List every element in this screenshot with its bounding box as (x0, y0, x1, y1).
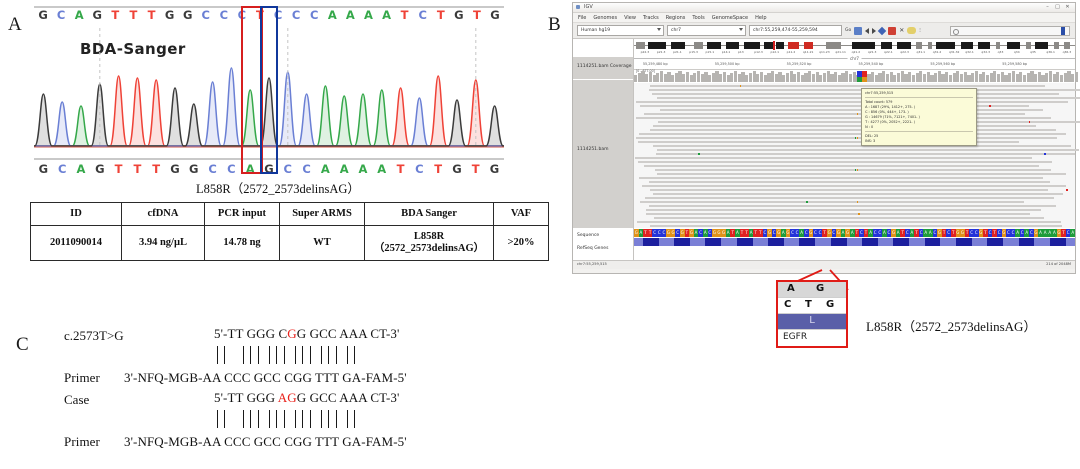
alignment-read (652, 93, 1059, 95)
cytoband-label: q21.2 (852, 50, 861, 54)
cytoband (897, 42, 911, 49)
coverage-bar (993, 71, 996, 82)
primer-block-case: Case 5'-TT GGG AGG GCC AAA CT-3' Primer3… (18, 390, 548, 454)
called-base: C (222, 162, 241, 176)
inset-ref-base-g: G (816, 283, 824, 294)
coverage-bar (893, 75, 896, 82)
primer-label: Primer (64, 370, 100, 385)
gene-exon (862, 238, 878, 246)
resize-icon[interactable]: ✕ (899, 27, 904, 35)
alignment-label-panel (573, 80, 633, 228)
coverage-bar (1053, 74, 1056, 82)
pair-bar (217, 346, 218, 364)
target-sequence: 5'-TT GGG CGG GCC AAA CT-3' (214, 326, 399, 342)
gene-exon (1019, 238, 1035, 246)
chevron-down-icon (739, 28, 743, 31)
back-arrow-icon[interactable] (865, 28, 869, 34)
genome-select[interactable]: Human hg19 (577, 25, 664, 36)
chromosome-ideogram[interactable]: p22.3p21.3p21.1p15.3p15.1p14.1p13p12.3p1… (634, 39, 1075, 57)
coverage-bar (982, 72, 985, 82)
coverage-bar (1071, 74, 1074, 82)
coverage-bar (675, 73, 678, 82)
alignment-read (640, 201, 1024, 203)
cytoband-label: q11.21 (803, 50, 814, 54)
block-name-label: Case (64, 392, 89, 408)
coverage-bar (1023, 75, 1026, 82)
ideogram-locus-marker (773, 41, 775, 50)
pair-bar (276, 346, 277, 364)
coverage-bar (656, 73, 659, 82)
coverage-bar (1041, 75, 1044, 82)
primer-sequence: 3'-NFQ-MGB-AA CCC GCC CGG TTT GA-FAM-5' (124, 434, 407, 449)
menu-item-genomes[interactable]: Genomes (593, 15, 617, 21)
pair-bar (224, 346, 225, 364)
status-memory: 214 of 2048M (1046, 262, 1071, 266)
cytoband-label: p21.3 (657, 50, 666, 54)
coverage-bar (667, 72, 670, 82)
close-icon[interactable]: ✕ (1064, 5, 1071, 10)
cytoband (764, 42, 774, 49)
cytoband (694, 42, 704, 49)
igv-toolbar[interactable]: Human hg19 chr7 chr7:55,259,474-55,259,5… (573, 23, 1075, 39)
gene-exon (768, 238, 784, 246)
panel-c-primer-alignment: c.2573T>G 5'-TT GGG CGG GCC AAA CT-3' Pr… (18, 326, 548, 466)
reference-base: T (142, 8, 160, 22)
coverage-bar (812, 74, 815, 82)
coverage-bar (753, 71, 756, 82)
coverage-bar (671, 75, 674, 82)
reference-base: C (215, 8, 233, 22)
minimize-icon[interactable]: – (1044, 5, 1051, 10)
coverage-bar (764, 75, 767, 82)
snp-marker (989, 105, 991, 107)
reference-base: T (396, 8, 414, 22)
menu-item-regions[interactable]: Regions (666, 15, 686, 21)
coverage-bar (964, 72, 967, 82)
cytoband (788, 42, 799, 49)
coverage-bar (997, 74, 1000, 82)
coverage-bar (1075, 72, 1078, 82)
cytoband (744, 42, 760, 49)
refresh-icon[interactable] (878, 26, 886, 34)
chromosome-select[interactable]: chr7 (667, 25, 746, 36)
zoom-slider[interactable] (950, 26, 1070, 36)
coverage-bar (697, 71, 700, 82)
coverage-bar (853, 72, 856, 82)
coverage-bar (956, 71, 959, 82)
ruler-chromosome-name: chr7 (847, 56, 862, 61)
sequence-track[interactable]: GATTCCCGGCGTGACACGGGATATTATTCGCGAGCCACGC… (634, 229, 1075, 237)
coverage-bar (1008, 73, 1011, 82)
coverage-bar (945, 72, 948, 82)
coverage-bar (1016, 74, 1019, 82)
gene-track[interactable] (634, 238, 1075, 246)
alignment-read (644, 165, 1039, 167)
alignment-read (637, 221, 1061, 223)
coverage-bar (960, 74, 963, 82)
region-tool-icon[interactable] (888, 27, 896, 35)
pair-bar (243, 346, 244, 364)
menu-item-genomespace[interactable]: GenomeSpace (712, 15, 748, 21)
coverage-bar (756, 74, 759, 82)
coverage-bar (1056, 72, 1059, 82)
pair-bar (328, 410, 329, 428)
th-pcr-input: PCR input (205, 203, 280, 226)
coverage-bar (738, 74, 741, 82)
zoom-slider-knob[interactable] (1061, 27, 1065, 35)
inset-gene-name: EGFR (783, 332, 807, 342)
coverage-bar (730, 73, 733, 82)
alignment-read (642, 185, 1066, 187)
coverage-bar (786, 73, 789, 82)
called-base: T (147, 162, 166, 176)
cytoband-label: q32.3 (981, 50, 990, 54)
maximize-icon[interactable]: □ (1054, 5, 1061, 10)
coverage-bar (808, 71, 811, 82)
reference-base: A (359, 8, 377, 22)
called-base: C (278, 162, 297, 176)
reference-base: G (450, 8, 468, 22)
ruler-tick-label: 55,259,580 bp (1002, 62, 1027, 66)
sequence-base: A (1070, 229, 1075, 237)
target-suffix: G GCC AAA CT-3' (297, 390, 400, 405)
cytoband-label: p13 (738, 50, 744, 54)
reference-base: C (414, 8, 432, 22)
cytoband (776, 42, 784, 49)
pair-bar (276, 410, 277, 428)
panel-a-chromatogram: GCAGTTTGGCCCTCCCAAAATCTGTG BDA-Sanger GC… (28, 2, 528, 192)
coverage-bar (890, 72, 893, 82)
alignment-track[interactable]: chr7:55,259,515 Total count: 579 A : 168… (634, 83, 1075, 228)
cytoband-label: p15.3 (689, 50, 698, 54)
coverage-bar (930, 75, 933, 82)
cytoband-label: q31.2 (933, 50, 942, 54)
ruler-tick-label: 55,259,480 bp (643, 62, 668, 66)
popup-footer-line: INS: 3 (865, 139, 973, 144)
snp-marker (858, 213, 860, 215)
coverage-bar (1049, 71, 1052, 82)
menu-item-tracks[interactable]: Tracks (643, 15, 659, 21)
igv-app-icon (576, 5, 580, 9)
track-label-genes[interactable]: RefSeq Genes (577, 246, 608, 251)
coverage-bar (845, 71, 848, 82)
gene-exon (705, 238, 721, 246)
snp-marker (857, 169, 859, 171)
target-prefix: 5'-TT GGG C (214, 326, 287, 341)
pair-bar (269, 346, 270, 364)
alignment-read (650, 225, 1062, 227)
magnifier-icon (953, 29, 959, 35)
called-base: G (448, 162, 467, 176)
called-base: A (335, 162, 354, 176)
primer-line: Primer3'-NFQ-MGB-AA CCC GCC CGG TTT GA-F… (64, 434, 407, 450)
alignment-read (653, 125, 1036, 127)
coverage-bar (901, 71, 904, 82)
th-id: ID (31, 203, 122, 226)
gene-exon (987, 238, 1003, 246)
coverage-bar (830, 74, 833, 82)
coordinate-ruler: chr7 55,259,480 bp55,259,500 bp55,259,52… (634, 57, 1075, 70)
cytoband (996, 42, 1000, 49)
primer-sequence: 3'-NFQ-MGB-AA CCC GCC CGG TTT GA-FAM-5' (124, 370, 407, 385)
called-base: G (90, 162, 109, 176)
menu-item-view[interactable]: View (624, 15, 636, 21)
cytoband (648, 42, 666, 49)
cell-bda-sanger: L858R （2572_2573delinsAG） (365, 226, 494, 261)
cytoband (707, 42, 721, 49)
target-suffix: G GCC AAA CT-3' (297, 326, 400, 341)
cytoband-label: p14.1 (722, 50, 731, 54)
coverage-bar (701, 74, 704, 82)
th-bda-sanger: BDA Sanger (365, 203, 494, 226)
pair-bar (295, 346, 296, 364)
coverage-bar (916, 73, 919, 82)
pair-bar (295, 410, 296, 428)
coverage-bar (782, 75, 785, 82)
alignment-read (645, 197, 1055, 199)
coverage-bar (664, 74, 667, 82)
gene-exon (643, 238, 659, 246)
coverage-bar (712, 73, 715, 82)
primer-block-wildtype: c.2573T>G 5'-TT GGG CGG GCC AAA CT-3' Pr… (18, 326, 548, 390)
coverage-bar (823, 73, 826, 82)
pair-bar (336, 410, 337, 428)
pair-bar (258, 410, 259, 428)
coverage-bar (1038, 72, 1041, 82)
cell-pcr-input: 14.78 ng (205, 226, 280, 261)
popup-behavior-icon[interactable] (907, 27, 916, 34)
coverage-bar (1064, 73, 1067, 82)
gene-exon (799, 238, 815, 246)
ruler-tick-label: 55,259,560 bp (930, 62, 955, 66)
inset-reference-row: A G (778, 282, 846, 298)
coverage-bar (771, 71, 774, 82)
coverage-bar (693, 73, 696, 82)
alignment-read (649, 181, 1050, 183)
coverage-bar (941, 74, 944, 82)
track-label-column: 1114251.bam Coverage 1114251.bam Sequenc… (573, 39, 634, 269)
reference-base: A (377, 8, 395, 22)
pair-bar (284, 410, 285, 428)
locus-input-value: chr7:55,259,474-55,259,594 (753, 28, 818, 33)
panel-b-letter: B (548, 14, 561, 36)
chevron-down-icon (657, 28, 661, 31)
gene-exon (1050, 238, 1066, 246)
pair-bar (250, 346, 251, 364)
snp-marker (740, 85, 742, 87)
home-icon[interactable] (854, 27, 862, 35)
cytoband (936, 42, 955, 49)
locus-input[interactable]: chr7:55,259,474-55,259,594 (749, 25, 842, 36)
coverage-bar (1030, 71, 1033, 82)
inset-gene-row: EGFR (778, 330, 846, 345)
reference-base: A (341, 8, 359, 22)
pair-bar (321, 346, 322, 364)
pair-bar (258, 346, 259, 364)
coverage-bar (745, 75, 748, 82)
menu-item-help[interactable]: Help (755, 15, 766, 21)
reference-base: T (468, 8, 486, 22)
igv-menu-bar[interactable]: FileGenomesViewTracksRegionsToolsGenomeS… (573, 13, 1075, 23)
coverage-bar (882, 71, 885, 82)
coverage-bar (741, 72, 744, 82)
inset-alt-row: C T G (778, 298, 846, 314)
cytoband-label: p11.2 (787, 50, 796, 54)
coverage-bar (838, 75, 841, 82)
pair-bar (302, 346, 303, 364)
menu-item-tools[interactable]: Tools (692, 15, 704, 21)
cytoband-label: q11.23 (819, 50, 830, 54)
table-header-row: ID cfDNA PCR input Super ARMS BDA Sanger… (31, 203, 549, 226)
pair-bar (347, 346, 348, 364)
coverage-bar (816, 72, 819, 82)
panel-b-variant-caption: L858R（2572_2573delinsAG） (866, 316, 1036, 335)
menu-item-file[interactable]: File (578, 15, 586, 21)
cytoband (916, 42, 922, 49)
called-base: A (372, 162, 391, 176)
cytoband-label: q32.1 (965, 50, 974, 54)
coverage-bar (886, 74, 889, 82)
primer-line: Primer3'-NFQ-MGB-AA CCC GCC CGG TTT GA-F… (64, 370, 407, 386)
cytoband-label: q22.3 (900, 50, 909, 54)
coverage-bar (767, 73, 770, 82)
coverage-variant-bar-2 (862, 71, 867, 82)
coverage-bar (971, 73, 974, 82)
coverage-bar (867, 74, 870, 82)
target-prefix: 5'-TT GGG (214, 390, 278, 405)
coverage-bar (819, 75, 822, 82)
alignment-read (646, 213, 1030, 215)
snp-marker (855, 137, 857, 139)
genome-select-value: Human hg19 (581, 28, 610, 33)
go-button[interactable]: Go (845, 28, 851, 33)
reference-base: G (88, 8, 106, 22)
coverage-bar (986, 75, 989, 82)
cytoband-label: q22.1 (884, 50, 893, 54)
pair-bar (321, 410, 322, 428)
reference-base: C (287, 8, 305, 22)
coverage-bar (990, 73, 993, 82)
alignment-read (650, 189, 1048, 191)
gene-exon (737, 238, 753, 246)
coverage-bar (801, 75, 804, 82)
cytoband (826, 42, 841, 49)
coverage-bar (723, 72, 726, 82)
alignment-read (656, 153, 1075, 155)
pair-bar (224, 410, 225, 428)
coverage-bar (727, 75, 730, 82)
cytoband (1035, 42, 1047, 49)
snp-marker (1044, 153, 1046, 155)
alignment-read (636, 137, 1058, 139)
coverage-bar (775, 74, 778, 82)
coverage-bar (912, 75, 915, 82)
th-vaf: VAF (494, 203, 549, 226)
called-base: C (203, 162, 222, 176)
igv-status-bar: chr7:55,259,515 214 of 2048M (573, 260, 1075, 269)
cytoband-label: q31.1 (917, 50, 926, 54)
track-label-sequence[interactable]: Sequence (577, 233, 599, 238)
reference-base: C (305, 8, 323, 22)
pair-bar (310, 346, 311, 364)
reference-base: G (486, 8, 504, 22)
target-variant-base: AG (278, 390, 297, 405)
called-base: C (410, 162, 429, 176)
gene-exon (831, 238, 847, 246)
coverage-bar (953, 73, 956, 82)
coverage-bar (649, 72, 652, 82)
inset-amino-acid: L (809, 315, 815, 326)
cytoband-label: p15.1 (706, 50, 715, 54)
called-base: T (109, 162, 128, 176)
cytoband-label: q34 (1014, 50, 1020, 54)
coverage-bar (778, 72, 781, 82)
snp-marker (806, 201, 808, 203)
cytoband (928, 42, 932, 49)
track-label-coverage[interactable]: 1114251.bam Coverage (577, 64, 631, 69)
called-base: A (354, 162, 373, 176)
coverage-bar (849, 74, 852, 82)
table-row: 2011090014 3.94 ng/µL 14.78 ng WT L858R … (31, 226, 549, 261)
alignment-read (635, 157, 1032, 159)
cell-bda-line2: （2572_2573delinsAG） (369, 243, 489, 255)
variant-popup[interactable]: chr7:55,259,515 Total count: 579 A : 168… (861, 88, 977, 146)
track-menu-icon[interactable]: ⫶ (919, 27, 921, 35)
cell-bda-line1: L858R (369, 231, 489, 243)
igv-window-title: IGV (584, 4, 593, 10)
reference-base: G (179, 8, 197, 22)
gene-exon (956, 238, 972, 246)
called-base: T (128, 162, 147, 176)
status-locus: chr7:55,259,515 (577, 262, 607, 266)
coverage-bar (975, 71, 978, 82)
inset-alt-base-t: T (805, 299, 812, 310)
pair-bar (354, 410, 355, 428)
coverage-bar (875, 75, 878, 82)
reference-base: T (432, 8, 450, 22)
reference-base: T (124, 8, 142, 22)
track-label-alignment[interactable]: 1114251.bam (577, 147, 608, 152)
popup-line: N : 0 (865, 125, 973, 130)
coverage-track[interactable]: [0 - 677.00] (634, 70, 1075, 82)
coverage-bar (1034, 74, 1037, 82)
reference-base: C (197, 8, 215, 22)
snp-marker (698, 153, 700, 155)
inset-ref-base-a: A (787, 283, 795, 294)
reference-base: A (323, 8, 341, 22)
coverage-bar (1027, 73, 1030, 82)
called-base: G (184, 162, 203, 176)
coverage-bar (834, 72, 837, 82)
snp-marker (857, 137, 859, 139)
ruler-tick-label: 55,259,520 bp (787, 62, 812, 66)
cell-super-arms: WT (280, 226, 365, 261)
reference-base: G (161, 8, 179, 22)
snp-marker (855, 169, 857, 171)
cytoband-label: q33 (998, 50, 1004, 54)
inset-alt-base-g: G (826, 299, 834, 310)
alignment-read (650, 85, 1045, 87)
called-base: T (429, 162, 448, 176)
pair-bar (336, 346, 337, 364)
forward-arrow-icon[interactable] (872, 28, 876, 34)
coverage-bar (760, 72, 763, 82)
pair-bar (217, 410, 218, 428)
coverage-bar (690, 75, 693, 82)
coverage-bar (678, 71, 681, 82)
pair-bar (302, 410, 303, 428)
coverage-bar (797, 72, 800, 82)
